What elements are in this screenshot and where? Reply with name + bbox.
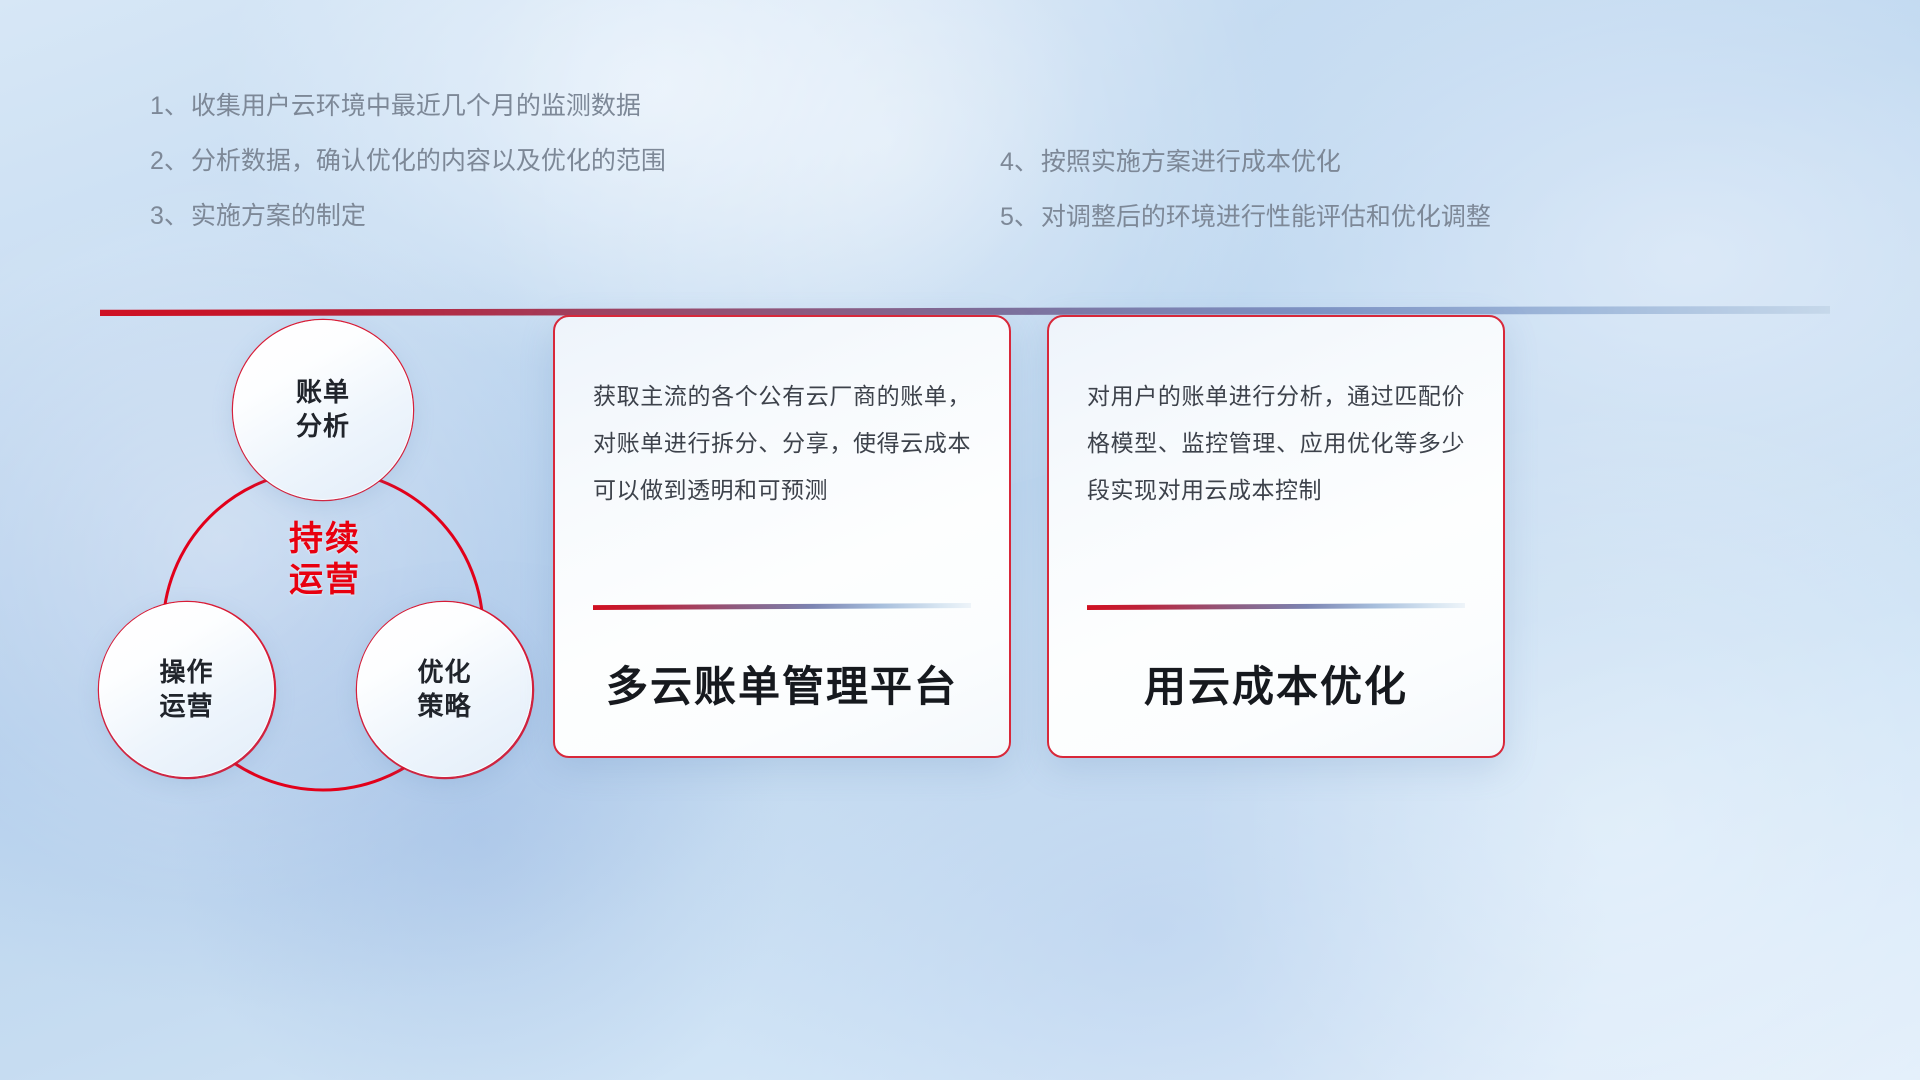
- card-body-text: 对用户的账单进行分析，通过匹配价格模型、监控管理、应用优化等多少段实现对用云成本…: [1087, 373, 1465, 514]
- step-text: 实施方案的制定: [191, 204, 366, 229]
- venn-bubble-bill-analysis[interactable]: 账单 分析: [233, 320, 413, 500]
- step-text: 分析数据，确认优化的内容以及优化的范围: [191, 149, 666, 174]
- card-divider-bar: [1087, 603, 1465, 610]
- step-number: 2、: [150, 149, 189, 174]
- process-step-item: 3、 实施方案的制定: [150, 204, 870, 229]
- venn-bubble-line-1: 操作: [159, 656, 213, 690]
- process-step-item: 5、 对调整后的环境进行性能评估和优化调整: [1000, 205, 1740, 230]
- venn-center-line-1: 持续: [289, 519, 361, 560]
- card-title: 多云账单管理平台: [593, 610, 971, 756]
- process-steps-right: 4、 按照实施方案进行成本优化 5、 对调整后的环境进行性能评估和优化调整: [1000, 150, 1740, 260]
- venn-bubble-line-2: 运营: [159, 690, 213, 724]
- feature-card-multicloud-billing[interactable]: 获取主流的各个公有云厂商的账单，对账单进行拆分、分享，使得云成本可以做到透明和可…: [553, 315, 1011, 758]
- process-step-item: 4、 按照实施方案进行成本优化: [1000, 150, 1740, 175]
- venn-bubble-line-1: 账单: [296, 376, 350, 410]
- venn-bubble-line-1: 优化: [417, 656, 471, 690]
- card-title: 用云成本优化: [1087, 610, 1465, 756]
- venn-diagram: 账单 分析 操作 运营 优化 策略 持续 运营: [95, 340, 615, 870]
- card-body-text: 获取主流的各个公有云厂商的账单，对账单进行拆分、分享，使得云成本可以做到透明和可…: [593, 373, 971, 514]
- step-text: 收集用户云环境中最近几个月的监测数据: [191, 94, 641, 119]
- step-number: 1、: [150, 94, 189, 119]
- venn-bubble-line-2: 分析: [296, 410, 350, 444]
- step-text: 按照实施方案进行成本优化: [1041, 150, 1341, 175]
- venn-bubble-line-2: 策略: [417, 690, 471, 724]
- feature-card-cloud-cost-optimization[interactable]: 对用户的账单进行分析，通过匹配价格模型、监控管理、应用优化等多少段实现对用云成本…: [1047, 315, 1505, 758]
- step-text: 对调整后的环境进行性能评估和优化调整: [1041, 205, 1491, 230]
- process-steps-left: 1、 收集用户云环境中最近几个月的监测数据 2、 分析数据，确认优化的内容以及优…: [150, 94, 870, 259]
- step-number: 3、: [150, 204, 189, 229]
- venn-center-line-2: 运营: [289, 560, 361, 601]
- process-step-item: 2、 分析数据，确认优化的内容以及优化的范围: [150, 149, 870, 174]
- card-divider-bar: [593, 603, 971, 610]
- venn-center-label: 持续 运营: [235, 490, 415, 630]
- slide-canvas: 1、 收集用户云环境中最近几个月的监测数据 2、 分析数据，确认优化的内容以及优…: [0, 0, 1920, 1080]
- step-number: 5、: [1000, 205, 1039, 230]
- process-step-item: 1、 收集用户云环境中最近几个月的监测数据: [150, 94, 870, 119]
- step-number: 4、: [1000, 150, 1039, 175]
